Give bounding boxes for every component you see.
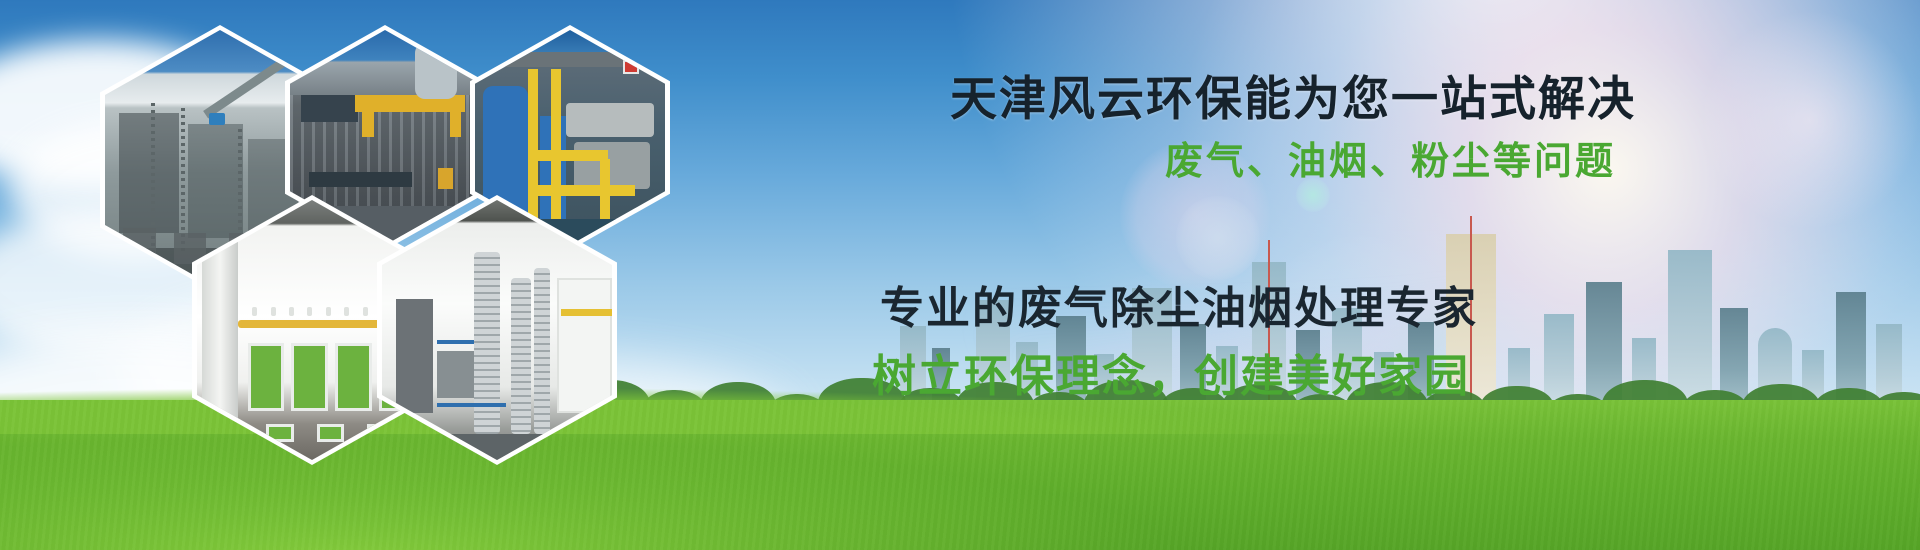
banner-headline: 天津风云环保能为您一站式解决 <box>950 60 1636 129</box>
banner-tagline-2: 树立环保理念，创建美好家园 <box>872 340 1470 404</box>
banner-subline: 废气、油烟、粉尘等问题 <box>1165 130 1616 185</box>
banner-copy: 天津风云环保能为您一站式解决 废气、油烟、粉尘等问题 专业的废气除尘油烟处理专家… <box>0 0 1920 550</box>
hero-banner: 天津风云环保能为您一站式解决 废气、油烟、粉尘等问题 专业的废气除尘油烟处理专家… <box>0 0 1920 550</box>
banner-tagline-1: 专业的废气除尘油烟处理专家 <box>880 272 1478 336</box>
